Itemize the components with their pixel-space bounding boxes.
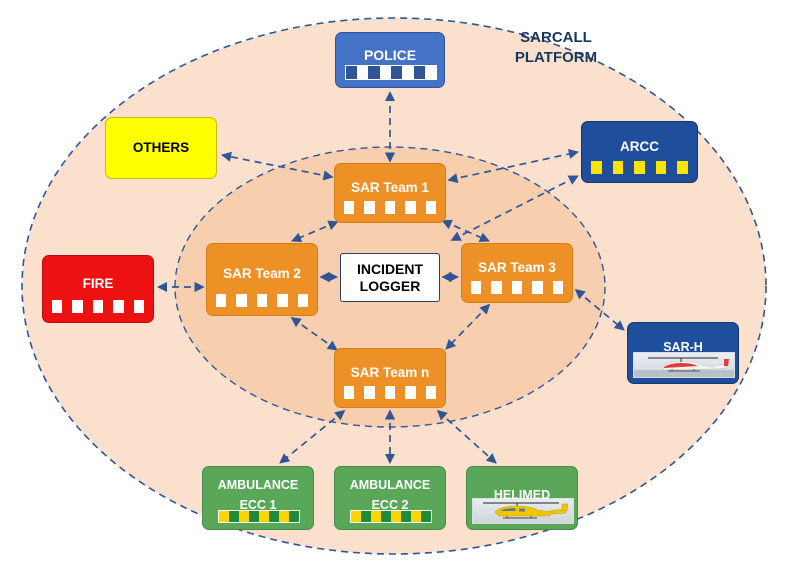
node-fire-label: FIRE <box>83 276 114 292</box>
node-others[interactable]: OTHERS <box>105 117 217 179</box>
node-sar-team-3-label: SAR Team 3 <box>478 260 556 276</box>
node-others-label: OTHERS <box>133 140 189 156</box>
node-arcc[interactable]: ARCC <box>581 121 698 183</box>
node-sar-team-1[interactable]: SAR Team 1 <box>334 163 446 223</box>
node-incident-logger[interactable]: INCIDENT LOGGER <box>340 253 440 302</box>
node-sar-team-1-label: SAR Team 1 <box>351 180 429 196</box>
node-sar-h[interactable]: SAR-H <box>627 322 739 384</box>
platform-title: SARCALL PLATFORM <box>466 28 646 69</box>
sar-team-1-battenburg-icon <box>344 201 436 214</box>
node-sar-team-2[interactable]: SAR Team 2 <box>206 243 318 316</box>
police-battenburg-icon <box>345 65 438 80</box>
platform-title-line2: PLATFORM <box>466 48 646 68</box>
sar-team-3-battenburg-icon <box>471 281 563 294</box>
node-incident-logger-line2: LOGGER <box>360 278 421 294</box>
node-incident-logger-line1: INCIDENT <box>357 261 423 277</box>
arcc-battenburg-icon <box>591 161 688 174</box>
node-police[interactable]: POLICE <box>335 32 445 88</box>
node-police-label: POLICE <box>364 47 416 63</box>
node-ambulance-ecc-1-line2: ECC 1 <box>240 498 277 512</box>
node-fire[interactable]: FIRE <box>42 255 154 323</box>
node-arcc-label: ARCC <box>620 139 659 155</box>
node-helimed-label: HELIMED <box>494 488 550 502</box>
node-sar-team-n-label: SAR Team n <box>351 365 430 381</box>
node-ambulance-ecc-2-line2: ECC 2 <box>372 498 409 512</box>
fire-battenburg-icon <box>52 300 144 313</box>
node-sar-team-3[interactable]: SAR Team 3 <box>461 243 573 303</box>
node-sar-team-2-label: SAR Team 2 <box>223 266 301 282</box>
node-helimed[interactable]: HELIMED <box>466 466 578 530</box>
sar-helicopter-photo <box>633 352 735 378</box>
node-ambulance-ecc-1-line1: AMBULANCE <box>218 478 299 492</box>
node-ambulance-ecc-2[interactable]: AMBULANCE ECC 2 <box>334 466 446 530</box>
sar-team-2-battenburg-icon <box>216 294 308 307</box>
node-sar-team-n[interactable]: SAR Team n <box>334 348 446 408</box>
sar-team-n-battenburg-icon <box>344 386 436 399</box>
diagram-canvas: SARCALL PLATFORM POLICE OTHERS ARCC FIRE… <box>0 0 789 576</box>
platform-title-line1: SARCALL <box>466 28 646 48</box>
node-sar-h-label: SAR-H <box>663 340 703 354</box>
node-ambulance-ecc-2-line1: AMBULANCE <box>350 478 431 492</box>
node-ambulance-ecc-1[interactable]: AMBULANCE ECC 1 <box>202 466 314 530</box>
